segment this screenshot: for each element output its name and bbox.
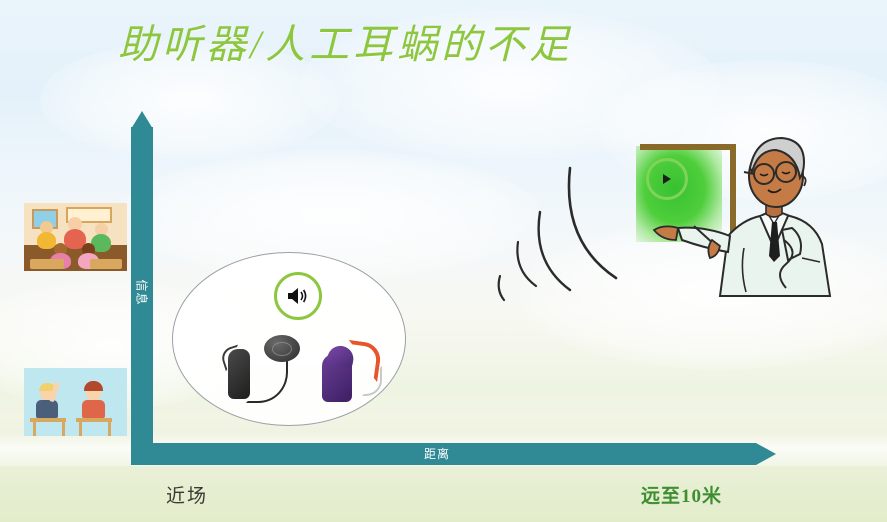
sound-attenuation-arcs bbox=[470, 150, 640, 310]
classroom-child-body bbox=[37, 232, 56, 249]
implant-coil bbox=[264, 335, 300, 362]
desk-leg bbox=[62, 420, 65, 436]
student-body-right bbox=[82, 400, 105, 418]
far-distance-caption: 远至10米 bbox=[641, 481, 722, 508]
cochlear-implant bbox=[228, 335, 308, 407]
doctor-left-arm bbox=[678, 228, 730, 252]
slide-canvas: 助听器/人工耳蜗的不足 信息 距离 近场 远至10米 bbox=[0, 0, 887, 522]
classroom-desk bbox=[30, 259, 64, 269]
hearing-aid bbox=[322, 340, 392, 404]
x-axis-label: 距离 bbox=[424, 445, 450, 462]
x-axis-arrowhead bbox=[756, 443, 776, 465]
page-title: 助听器/人工耳蜗的不足 bbox=[118, 12, 573, 70]
far-source-teacher bbox=[624, 128, 887, 298]
students-desks-photo bbox=[24, 368, 127, 436]
classroom-photo bbox=[24, 203, 127, 271]
student-hair-right bbox=[84, 381, 103, 391]
doctor-left-hand bbox=[654, 226, 678, 240]
y-axis-label: 信息 bbox=[131, 268, 153, 316]
field-texture bbox=[0, 462, 887, 522]
near-field-caption: 近场 bbox=[166, 481, 208, 508]
implant-coil-wire bbox=[246, 359, 288, 403]
implant-coil-detail bbox=[272, 342, 292, 356]
desk-leg bbox=[108, 420, 111, 436]
desk-leg bbox=[79, 420, 82, 436]
desk-leg bbox=[33, 420, 36, 436]
classroom-desk bbox=[90, 259, 122, 269]
speaker-icon bbox=[274, 272, 322, 320]
y-axis-label-text: 信息 bbox=[134, 279, 151, 305]
x-axis-arrow bbox=[131, 443, 776, 465]
hearing-aid-eartip-wire bbox=[362, 366, 382, 396]
student-body-left bbox=[36, 400, 58, 418]
